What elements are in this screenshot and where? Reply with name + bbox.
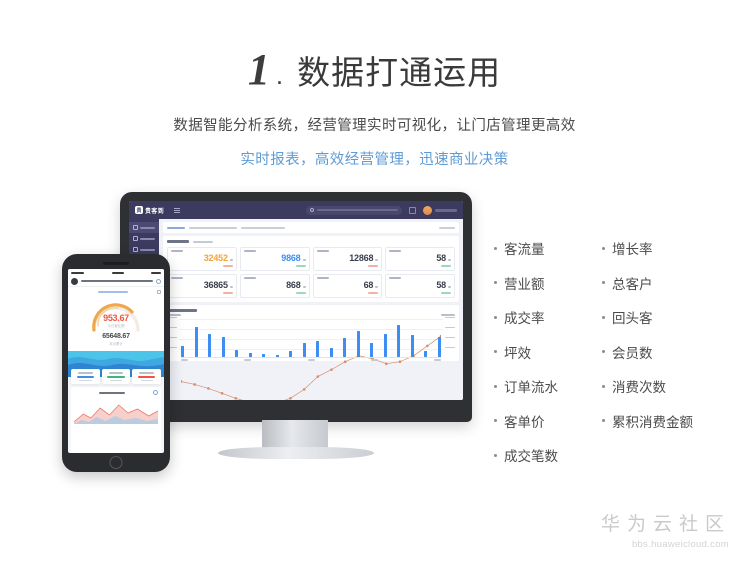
feature-list: 客流量营业额成交率坪效订单流水客单价成交笔数 增长率总客户回头客会员数消费次数累… (494, 238, 693, 465)
phone-chart-refresh-icon[interactable] (153, 390, 158, 395)
feature-item: 客流量 (494, 238, 558, 258)
kpi-value: 58 (436, 281, 446, 290)
kpi-card-footer (244, 292, 306, 294)
hero-subtitle-accent: 实时报表，高效经营管理，迅速商业决策 (0, 148, 749, 169)
feature-label: 成交率 (504, 307, 545, 327)
bullet-icon (602, 385, 605, 388)
brand-name: 贵客到 (145, 206, 164, 215)
clock-label (112, 272, 124, 274)
kpi-unit (230, 286, 233, 288)
kpi-unit (303, 286, 306, 288)
chart-icon (133, 247, 138, 252)
kpi-unit (448, 286, 451, 288)
kpi-card-label (389, 277, 401, 279)
kpi-unit (448, 259, 451, 261)
gauge-caption: 今日营业额 (88, 323, 144, 328)
feature-label: 成交笔数 (504, 445, 558, 465)
kpi-card-label (389, 250, 401, 252)
phone-status-bar (68, 269, 164, 276)
bullet-icon (494, 454, 497, 457)
chart-axis-labels (167, 314, 455, 316)
feature-item: 成交率 (494, 307, 558, 327)
bar (357, 331, 360, 356)
bar (316, 341, 319, 357)
sidebar-item-customers[interactable] (129, 233, 159, 244)
kpi-value: 868 (286, 281, 300, 290)
notice-text (189, 227, 237, 229)
bullet-icon (494, 419, 497, 422)
mini-card-value (138, 376, 155, 378)
kpi-card[interactable]: 32452 (167, 247, 237, 271)
monitor-bezel: 贵 贵客到 (120, 192, 472, 422)
mini-stat-cards (68, 369, 164, 384)
kpi-value-row: 12868 (317, 254, 379, 263)
feature-item: 总客户 (602, 273, 693, 293)
feature-item: 增长率 (602, 238, 693, 258)
y-axis-label-right (441, 314, 455, 316)
kpi-card-label (244, 277, 256, 279)
bar (343, 338, 346, 357)
phone-chart-panel (71, 387, 161, 453)
kpi-card-footer (389, 265, 451, 267)
feature-label: 坪效 (504, 342, 531, 362)
sidebar-item-label (140, 227, 155, 229)
kpi-value-row: 58 (389, 254, 451, 263)
bullet-icon (494, 350, 497, 353)
kpi-card-label (171, 277, 183, 279)
kpi-value: 36865 (204, 281, 228, 290)
bar (438, 337, 441, 357)
mini-card-label (78, 372, 93, 374)
bar (208, 334, 211, 357)
kpi-card[interactable]: 9868 (240, 247, 310, 271)
kpi-card-label (317, 277, 329, 279)
feature-label: 客流量 (504, 238, 545, 258)
kpi-panel-daterange[interactable] (193, 241, 213, 243)
kpi-value: 12868 (349, 254, 373, 263)
feature-item: 客单价 (494, 411, 558, 431)
gauge-chart: 953.67 今日营业额 (88, 300, 144, 332)
mini-card-sub (110, 380, 122, 381)
brand-logo[interactable]: 贵 贵客到 (135, 206, 164, 215)
kpi-value-row: 58 (389, 281, 451, 290)
page-title: 1 . 数据打通运用 (0, 48, 749, 92)
feature-item: 订单流水 (494, 376, 558, 396)
dashboard-body: 3245298681286858368658686858 (129, 219, 463, 400)
kpi-card-footer (317, 292, 379, 294)
bullet-icon (494, 247, 497, 250)
kpi-card[interactable]: 58 (385, 274, 455, 298)
sidebar-item-overview[interactable] (129, 222, 159, 233)
feature-column-left: 客流量营业额成交率坪效订单流水客单价成交笔数 (494, 238, 558, 465)
kpi-unit (230, 259, 233, 261)
kpi-delta-indicator (223, 265, 233, 267)
gauge-secondary-caption: 本月累计 (109, 341, 123, 346)
dashboard-app: 贵 贵客到 (129, 201, 463, 400)
kpi-card-label (317, 250, 329, 252)
menu-collapse-icon[interactable] (174, 208, 180, 213)
sidebar-item-label (140, 238, 155, 240)
phone-date-label (98, 291, 128, 293)
phone-navbar (68, 276, 164, 287)
phone-page-title (81, 280, 153, 283)
monitor-screen: 贵 贵客到 (129, 201, 463, 400)
feature-item: 回头客 (602, 307, 693, 327)
notice-tag (167, 227, 185, 229)
feature-label: 总客户 (612, 273, 653, 293)
bar (370, 343, 373, 357)
device-mockup-group: 贵 贵客到 (62, 192, 472, 487)
bullet-icon (494, 316, 497, 319)
search-input[interactable] (306, 206, 402, 215)
hero-subtitle: 数据智能分析系统，经营管理实时可视化，让门店管理更高效 (0, 114, 749, 135)
chart-panel (163, 305, 459, 361)
kpi-delta-indicator (223, 292, 233, 294)
bar (411, 335, 414, 356)
kpi-card[interactable]: 868 (240, 274, 310, 298)
bar-series (181, 317, 441, 357)
feature-label: 订单流水 (504, 376, 558, 396)
kpi-delta-indicator (296, 292, 306, 294)
user-name-label (435, 209, 457, 212)
kpi-grid: 3245298681286858368658686858 (167, 247, 455, 298)
feature-label: 回头客 (612, 307, 653, 327)
chart-title (167, 309, 197, 312)
mini-card-label (109, 372, 124, 374)
feature-label: 营业额 (504, 273, 545, 293)
feature-item: 成交笔数 (494, 445, 558, 465)
kpi-card-label (244, 250, 256, 252)
mini-card-value (77, 376, 94, 378)
kpi-delta-indicator (368, 265, 378, 267)
kpi-unit (375, 286, 378, 288)
mini-stat-card[interactable] (71, 369, 100, 384)
feature-item: 坪效 (494, 342, 558, 362)
feature-item: 营业额 (494, 273, 558, 293)
feature-label: 消费次数 (612, 376, 666, 396)
carrier-label (71, 272, 84, 274)
kpi-card-label (171, 250, 183, 252)
battery-icon (151, 272, 161, 274)
kpi-delta-indicator (441, 265, 451, 267)
x-axis-ticks (181, 359, 441, 361)
bullet-icon (602, 247, 605, 250)
refresh-icon[interactable] (156, 279, 161, 284)
x-axis (181, 357, 441, 358)
user-icon (133, 236, 138, 241)
bullet-icon (602, 419, 605, 422)
bullet-icon (494, 385, 497, 388)
section-number-dot: . (276, 60, 283, 91)
kpi-panel-title (167, 240, 189, 243)
mini-stat-card[interactable] (102, 369, 131, 384)
apps-icon[interactable] (409, 207, 416, 214)
kpi-card-footer (171, 265, 233, 267)
bullet-icon (602, 350, 605, 353)
area-chart-icon (74, 398, 158, 424)
phone-speaker (103, 262, 129, 265)
bullet-icon (602, 281, 605, 284)
search-icon (310, 208, 314, 212)
kpi-value-row: 9868 (244, 254, 306, 263)
bullet-icon (494, 281, 497, 284)
feature-label: 会员数 (612, 342, 653, 362)
notice-bar[interactable] (163, 222, 459, 233)
kpi-panel-header (167, 240, 455, 243)
watermark: 华为云社区 bbs.huaweicloud.com (601, 509, 731, 550)
bar (330, 348, 333, 357)
bar (303, 343, 306, 356)
kpi-unit (375, 259, 378, 261)
sidebar-item-label (140, 249, 155, 251)
kpi-value-row: 868 (244, 281, 306, 290)
bar (397, 325, 400, 357)
bar (181, 346, 184, 357)
kpi-value-row: 68 (317, 281, 379, 290)
kpi-card-footer (244, 265, 306, 267)
gauge-value: 953.67 (88, 313, 144, 323)
kpi-card[interactable]: 58 (385, 247, 455, 271)
calendar-icon[interactable] (157, 290, 161, 294)
store-avatar[interactable] (71, 278, 78, 285)
feature-item: 消费次数 (602, 376, 693, 396)
bar (195, 327, 198, 357)
chart-header (167, 309, 455, 312)
gauge-secondary-value: 65648.67 (102, 333, 130, 340)
feature-item: 累积消费金额 (602, 411, 693, 431)
grid-icon (133, 225, 138, 230)
bar-chart (167, 317, 455, 361)
avatar[interactable] (423, 206, 432, 215)
kpi-value: 58 (436, 254, 446, 263)
dashboard-navbar: 贵 贵客到 (129, 201, 463, 219)
dashboard-main: 3245298681286858368658686858 (159, 219, 463, 400)
feature-column-right: 增长率总客户回头客会员数消费次数累积消费金额 (602, 238, 693, 465)
kpi-delta-indicator (368, 292, 378, 294)
search-placeholder (317, 209, 398, 211)
watermark-url: bbs.huaweicloud.com (601, 539, 729, 550)
phone-subbar (68, 287, 164, 296)
bullet-icon (602, 316, 605, 319)
kpi-value: 9868 (281, 254, 300, 263)
phone-chart-header (74, 390, 158, 395)
kpi-card[interactable]: 36865 (167, 274, 237, 298)
phone-area-chart (74, 398, 158, 424)
bar (384, 334, 387, 356)
mini-card-sub (79, 380, 91, 381)
section-heading: 数据打通运用 (297, 56, 501, 89)
kpi-value: 68 (364, 281, 374, 290)
gauge-widget: 953.67 今日营业额 65648.67 本月累计 (68, 296, 164, 351)
hero-section: 1 . 数据打通运用 数据智能分析系统，经营管理实时可视化，让门店管理更高效 实… (0, 0, 749, 169)
feature-label: 累积消费金额 (612, 411, 693, 431)
kpi-card[interactable]: 12868 (313, 247, 383, 271)
mini-card-label (139, 372, 154, 374)
kpi-value-row: 36865 (171, 281, 233, 290)
kpi-value: 32452 (204, 254, 228, 263)
kpi-delta-indicator (441, 292, 451, 294)
mini-card-sub (141, 380, 153, 381)
kpi-delta-indicator (296, 265, 306, 267)
mini-stat-card[interactable] (132, 369, 161, 384)
kpi-value-row: 32452 (171, 254, 233, 263)
phone-chart-title (99, 392, 125, 394)
kpi-panel: 3245298681286858368658686858 (163, 236, 459, 302)
monitor-stand-base (218, 447, 374, 459)
desktop-monitor-mockup: 贵 贵客到 (120, 192, 472, 450)
kpi-card[interactable]: 68 (313, 274, 383, 298)
section-number: 1 (248, 48, 270, 92)
feature-label: 客单价 (504, 411, 545, 431)
notice-more-link[interactable] (439, 227, 455, 229)
bar (222, 337, 225, 356)
feature-item: 会员数 (602, 342, 693, 362)
watermark-name: 华为云社区 (601, 509, 731, 536)
notice-text-secondary (241, 227, 285, 229)
kpi-card-footer (317, 265, 379, 267)
phone-screen: 953.67 今日营业额 65648.67 本月累计 (68, 269, 164, 453)
kpi-card-footer (389, 292, 451, 294)
feature-label: 增长率 (612, 238, 653, 258)
kpi-unit (303, 259, 306, 261)
logo-icon: 贵 (135, 206, 143, 214)
mini-card-value (107, 376, 124, 378)
kpi-card-footer (171, 292, 233, 294)
phone-home-button[interactable] (110, 456, 123, 469)
mobile-phone-mockup: 953.67 今日营业额 65648.67 本月累计 (62, 254, 170, 472)
